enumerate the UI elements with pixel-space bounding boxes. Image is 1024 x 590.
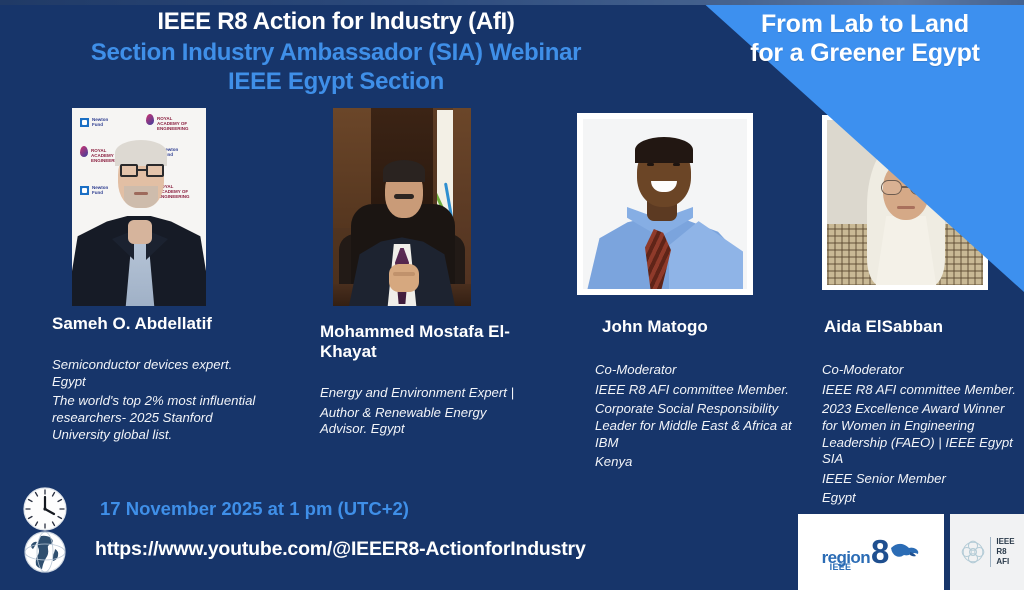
- speaker-name-2: Mohammed Mostafa El-Khayat: [320, 322, 520, 363]
- afi-line-3: AFI: [996, 557, 1014, 567]
- speaker-bio-3-line-1: Co-Moderator: [595, 362, 795, 379]
- speaker-bio-2: Energy and Environment Expert | Author &…: [320, 385, 525, 441]
- speaker-bio-4-line-1: Co-Moderator: [822, 362, 1022, 379]
- event-datetime: 17 November 2025 at 1 pm (UTC+2): [100, 498, 409, 520]
- speaker-name-4: Aida ElSabban: [824, 317, 1024, 337]
- speaker-bio-4-line-3: 2023 Excellence Award Winner for Women i…: [822, 401, 1022, 468]
- header-line-3: IEEE Egypt Section: [0, 67, 672, 96]
- header-line-2: Section Industry Ambassador (SIA) Webina…: [0, 38, 672, 67]
- youtube-channel-link[interactable]: https://www.youtube.com/@IEEER8-Actionfo…: [95, 538, 586, 561]
- speaker-bio-3-line-3: Corporate Social Responsibility Leader f…: [595, 401, 795, 451]
- speaker-bio-4-line-2: IEEE R8 AFI committee Member.: [822, 382, 1022, 399]
- speaker-bio-2-line-1: Energy and Environment Expert |: [320, 385, 525, 402]
- region8-number: 8: [871, 538, 888, 566]
- speaker-photo-1: NewtonFund ROYALACADEMY OFENGINEERING RO…: [72, 108, 206, 306]
- speaker-name-3: John Matogo: [602, 317, 802, 337]
- webinar-flyer: From Lab to Land for a Greener Egypt IEE…: [0, 0, 1024, 590]
- afi-knot-icon: [959, 538, 987, 566]
- ieee-region8-logo: region IEEE 8: [798, 514, 944, 590]
- speaker-photo-3: [577, 113, 753, 295]
- speaker-name-1: Sameh O. Abdellatif: [52, 314, 282, 334]
- ieee-r8-afi-logo: IEEE R8 AFI: [950, 514, 1024, 590]
- afi-line-2: R8: [996, 547, 1014, 557]
- clock-icon: [21, 485, 69, 533]
- speaker-name-2-text: Mohammed Mostafa El-Khayat: [320, 322, 510, 361]
- banner-line-2: for a Greener Egypt: [720, 39, 1010, 68]
- speaker-photo-2: [333, 108, 471, 306]
- banner-line-1: From Lab to Land: [720, 10, 1010, 39]
- speaker-bio-4-line-4: IEEE Senior Member: [822, 471, 1022, 488]
- speaker-bio-4: Co-Moderator IEEE R8 AFI committee Membe…: [822, 362, 1022, 510]
- speaker-bio-4-line-5: Egypt: [822, 490, 1022, 507]
- event-theme-banner: From Lab to Land for a Greener Egypt: [720, 10, 1010, 69]
- speaker-bio-2-line-2: Author & Renewable Energy Advisor. Egypt: [320, 405, 525, 438]
- top-accent-strip: [0, 0, 1024, 5]
- speaker-bio-1: Semiconductor devices expert. Egypt The …: [52, 357, 264, 446]
- header-line-1: IEEE R8 Action for Industry (AfI): [0, 8, 672, 37]
- speaker-bio-3-line-4: Kenya: [595, 454, 795, 471]
- region8-map-icon: [890, 541, 920, 563]
- globe-icon: [22, 527, 68, 577]
- region8-ieee-text: IEEE: [830, 563, 852, 572]
- speaker-bio-1-line-2: The world's top 2% most influential rese…: [52, 393, 264, 443]
- speaker-bio-3: Co-Moderator IEEE R8 AFI committee Membe…: [595, 362, 795, 474]
- afi-line-1: IEEE: [996, 537, 1014, 547]
- speaker-bio-3-line-2: IEEE R8 AFI committee Member.: [595, 382, 795, 399]
- speaker-bio-1-line-1: Semiconductor devices expert. Egypt: [52, 357, 264, 390]
- flyer-header: IEEE R8 Action for Industry (AfI) Sectio…: [0, 8, 672, 96]
